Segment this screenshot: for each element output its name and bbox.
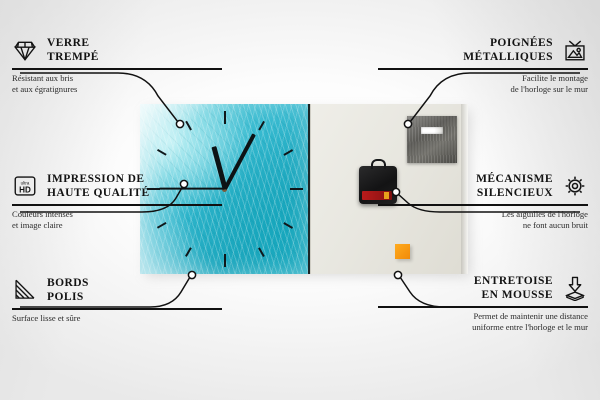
feature-description: Surface lisse et sûre bbox=[12, 313, 222, 324]
clock-hour-marker bbox=[283, 149, 293, 156]
feature-title-line1: VERRE bbox=[47, 36, 99, 50]
feature-heading: ultra HD IMPRESSION DE HAUTE QUALITÉ bbox=[12, 172, 222, 200]
clock-hour-marker bbox=[258, 121, 265, 131]
picture-hanger-icon bbox=[562, 37, 588, 63]
clock-hour-marker bbox=[185, 121, 192, 131]
clock-hour-marker bbox=[224, 111, 226, 124]
feature-title-line2: HAUTE QUALITÉ bbox=[47, 186, 150, 200]
feature-title-line1: POIGNÉES bbox=[463, 36, 553, 50]
feature-divider bbox=[12, 68, 222, 70]
foam-spacer-icon bbox=[562, 275, 588, 301]
clock-hour-marker bbox=[185, 247, 192, 257]
feature-divider bbox=[378, 306, 588, 308]
feature-title-line1: ENTRETOISE bbox=[474, 274, 553, 288]
feature-heading: BORDS POLIS bbox=[12, 276, 222, 304]
feature-divider bbox=[12, 308, 222, 310]
gear-icon bbox=[562, 173, 588, 199]
feature-description: Les aiguilles de l'horloge ne font aucun… bbox=[378, 209, 588, 232]
feature-title: BORDS POLIS bbox=[47, 276, 89, 304]
feature-title: MÉCANISME SILENCIEUX bbox=[476, 172, 553, 200]
svg-text:HD: HD bbox=[19, 186, 31, 195]
feature-title-line2: EN MOUSSE bbox=[474, 288, 553, 302]
feature-description: Couleurs intenses et image claire bbox=[12, 209, 222, 232]
svg-text:ultra: ultra bbox=[21, 180, 30, 185]
feature-heading: POIGNÉES MÉTALLIQUES bbox=[378, 36, 588, 64]
feature-title-line1: MÉCANISME bbox=[476, 172, 553, 186]
feature-title-line2: SILENCIEUX bbox=[476, 186, 553, 200]
feature-divider bbox=[378, 68, 588, 70]
feature-title: VERRE TREMPÉ bbox=[47, 36, 99, 64]
feature-title-line1: IMPRESSION DE bbox=[47, 172, 150, 186]
feature-mecanisme-silencieux: MÉCANISME SILENCIEUX Les aiguilles de l'… bbox=[378, 172, 588, 231]
feature-title: ENTRETOISE EN MOUSSE bbox=[474, 274, 553, 302]
feature-description: Résistant aux bris et aux égratignures bbox=[12, 73, 222, 96]
feature-entretoise-en-mousse: ENTRETOISE EN MOUSSE Permet de maintenir… bbox=[378, 274, 588, 333]
feature-poignees-metalliques: POIGNÉES MÉTALLIQUES Facilite le montage… bbox=[378, 36, 588, 95]
feature-title: IMPRESSION DE HAUTE QUALITÉ bbox=[47, 172, 150, 200]
infographic-canvas: VERRE TREMPÉ Résistant aux bris et aux é… bbox=[0, 0, 600, 400]
feature-title: POIGNÉES MÉTALLIQUES bbox=[463, 36, 553, 64]
clock-hour-marker bbox=[283, 222, 293, 229]
feature-description: Facilite le montage de l'horloge sur le … bbox=[378, 73, 588, 96]
clock-hour-marker bbox=[224, 254, 226, 267]
feature-heading: VERRE TREMPÉ bbox=[12, 36, 222, 64]
feature-title-line2: MÉTALLIQUES bbox=[463, 50, 553, 64]
hanger-slot bbox=[421, 127, 443, 134]
orange-foam-spacer bbox=[395, 244, 410, 259]
feature-impression-haute-qualite: ultra HD IMPRESSION DE HAUTE QUALITÉ Cou… bbox=[12, 172, 222, 231]
ultra-hd-icon: ultra HD bbox=[12, 173, 38, 199]
feature-heading: ENTRETOISE EN MOUSSE bbox=[378, 274, 588, 302]
feature-divider bbox=[12, 204, 222, 206]
feature-heading: MÉCANISME SILENCIEUX bbox=[378, 172, 588, 200]
polished-edge-icon bbox=[12, 277, 38, 303]
clock-minute-hand bbox=[223, 133, 256, 190]
clock-hour-marker bbox=[258, 247, 265, 257]
feature-verre-trempe: VERRE TREMPÉ Résistant aux bris et aux é… bbox=[12, 36, 222, 95]
feature-divider bbox=[378, 204, 588, 206]
diamond-icon bbox=[12, 37, 38, 63]
feature-bords-polis: BORDS POLIS Surface lisse et sûre bbox=[12, 276, 222, 324]
clock-hour-marker bbox=[290, 188, 303, 190]
feature-description: Permet de maintenir une distance uniform… bbox=[378, 311, 588, 334]
metal-hanger-bracket bbox=[407, 116, 457, 163]
feature-title-line2: TREMPÉ bbox=[47, 50, 99, 64]
feature-title-line2: POLIS bbox=[47, 290, 89, 304]
clock-hour-marker bbox=[157, 149, 167, 156]
mechanism-hanging-loop bbox=[371, 159, 386, 169]
feature-title-line1: BORDS bbox=[47, 276, 89, 290]
